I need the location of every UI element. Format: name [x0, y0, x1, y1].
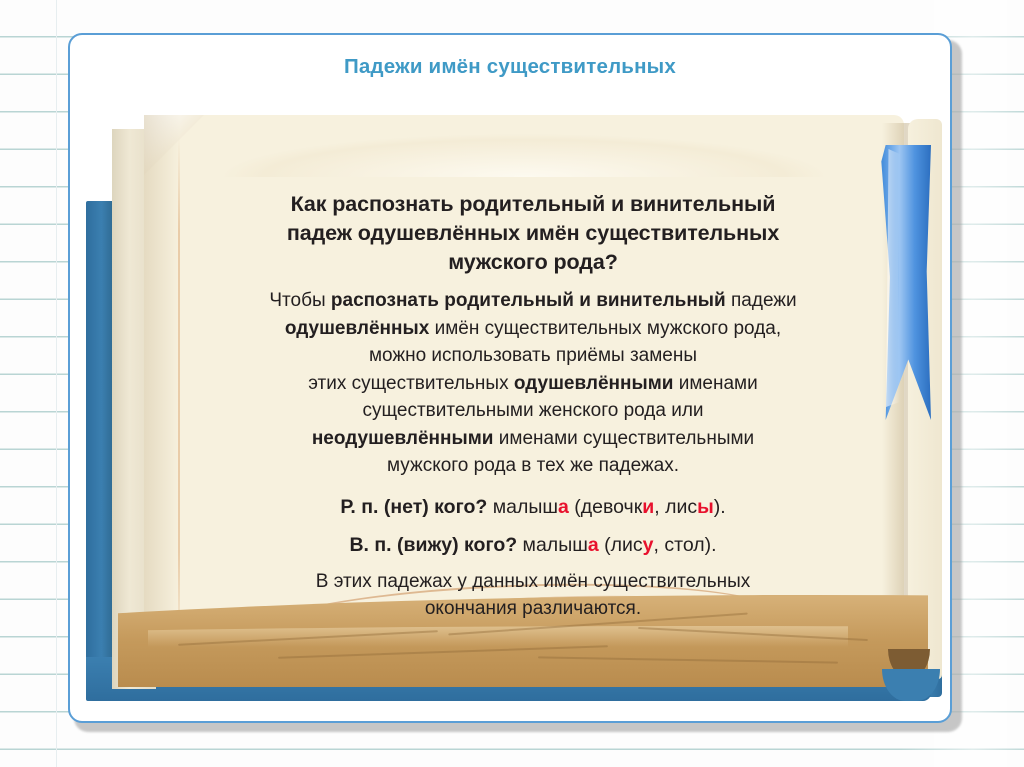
example-text: ). [714, 496, 726, 518]
plain-text: Чтобы [269, 290, 331, 311]
paper-margin-line [56, 0, 57, 767]
highlighted-ending: у [643, 534, 654, 556]
emphasis-text: неодушевлёнными [312, 428, 494, 449]
lesson-paragraph-line: одушевлённых имён существительных мужско… [188, 315, 878, 343]
example-text: , стол). [654, 534, 717, 556]
example-text: (лис [599, 534, 643, 556]
highlighted-ending: а [558, 496, 569, 518]
plain-text: падежи [726, 290, 797, 311]
highlighted-ending: и [642, 496, 654, 518]
plain-text: имён существительных мужского рода, [429, 318, 781, 339]
lesson-paragraph-line: существительными женского рода или [188, 397, 878, 425]
lesson-paragraph-line: можно использовать приёмы замены [188, 342, 878, 370]
lesson-paragraph-line: мужского рода в тех же падежах. [188, 452, 878, 480]
book-page-top-curve [144, 107, 904, 177]
lesson-paragraph-line: этих существительных одушевлёнными имена… [188, 370, 878, 398]
lesson-example-line: В. п. (вижу) кого? малыша (лису, стол). [188, 526, 878, 564]
lesson-paragraph-line: Чтобы распознать родительный и винительн… [188, 287, 878, 315]
slide-card: Падежи имён существительных Ка [68, 33, 952, 723]
case-question-label: В. п. (вижу) кого? [349, 534, 517, 556]
plain-text: мужского рода в тех же падежах. [387, 455, 679, 476]
plain-text: именами существительными [493, 428, 754, 449]
example-text: (девочк [569, 496, 642, 518]
highlighted-ending: ы [697, 496, 714, 518]
page-title: Падежи имён существительных [70, 55, 950, 79]
plain-text: именами [673, 373, 757, 394]
plain-text: этих существительных [308, 373, 514, 394]
plain-text: можно использовать приёмы замены [369, 345, 697, 366]
lesson-heading-line: Как распознать родительный и винительный [196, 190, 870, 219]
emphasis-text: одушевлёнными [514, 373, 674, 394]
example-text: малыш [487, 496, 558, 518]
lesson-heading: Как распознать родительный и винительный… [188, 190, 878, 277]
book-cover-left-edge [86, 201, 114, 701]
lesson-closing: В этих падежах у данных имён существител… [188, 568, 878, 622]
lesson-examples: Р. п. (нет) кого? малыша (девочки, лисы)… [188, 488, 878, 564]
emphasis-text: распознать родительный и винительный [331, 290, 726, 311]
lesson-paragraph: Чтобы распознать родительный и винительн… [188, 287, 878, 480]
highlighted-ending: а [588, 534, 599, 556]
lesson-closing-line: В этих падежах у данных имён существител… [188, 568, 878, 595]
lesson-heading-line: падеж одушевлённых имён существительных [196, 219, 870, 248]
lesson-text-block: Как распознать родительный и винительный… [188, 190, 878, 622]
case-question-label: Р. п. (нет) кого? [340, 496, 487, 518]
lesson-closing-line: окончания различаются. [188, 595, 878, 622]
lesson-heading-line: мужского рода? [196, 248, 870, 277]
lesson-example-line: Р. п. (нет) кого? малыша (девочки, лисы)… [188, 488, 878, 526]
example-text: , лис [654, 496, 697, 518]
emphasis-text: одушевлённых [285, 318, 429, 339]
example-text: малыш [517, 534, 588, 556]
plain-text: существительными женского рода или [362, 400, 703, 421]
lesson-paragraph-line: неодушевлёнными именами существительными [188, 425, 878, 453]
